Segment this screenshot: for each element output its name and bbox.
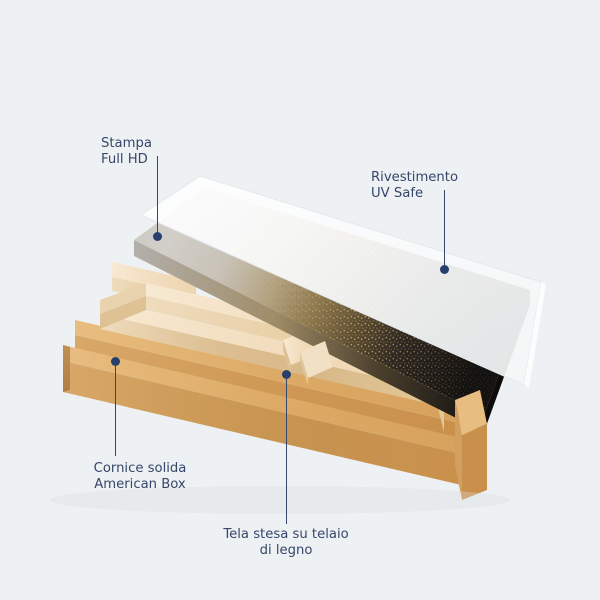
callout-leader-line-tela: [286, 376, 288, 524]
callout-label-cornice-solida-american-box: Cornice solida American Box: [55, 461, 225, 492]
callout-label-stampa-full-hd: Stampa Full HD: [101, 136, 152, 167]
product-infographic: MATERIALI PREMIUM: [0, 0, 600, 600]
callout-dot-uv: [440, 265, 449, 274]
exploded-view-illustration: [0, 0, 600, 600]
callout-leader-line-uv: [444, 190, 446, 268]
callout-label-tela-stesa-su-telaio-di-legno: Tela stesa su telaio di legno: [206, 527, 366, 558]
callout-leader-line-cornice: [115, 363, 117, 456]
callout-dot-stampa: [153, 232, 162, 241]
callout-leader-line-stampa: [157, 156, 159, 236]
